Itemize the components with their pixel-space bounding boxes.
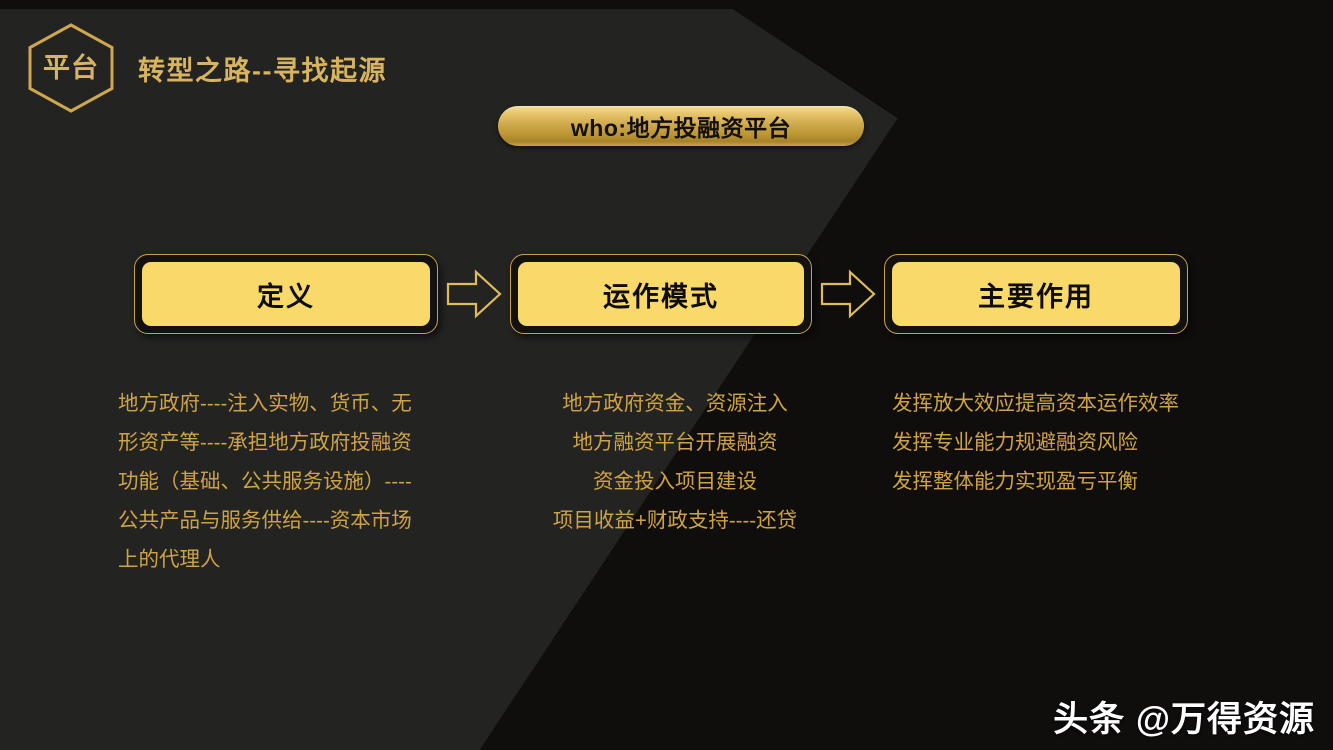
definition-line-4: 公共产品与服务供给----资本市场 [118,501,448,540]
who-banner: who:地方投融资平台 [498,106,864,146]
arrow-2 [812,268,884,320]
stage-box-main-function[interactable]: 主要作用 [884,254,1188,334]
operating-model-column: 地方政府资金、资源注入 地方融资平台开展融资 资金投入项目建设 项目收益+财政支… [540,384,810,540]
hexagon-badge-label: 平台 [26,22,116,114]
stage-box-definition-inner: 定义 [142,262,430,326]
definition-line-5: 上的代理人 [118,540,448,579]
definition-column: 地方政府----注入实物、货币、无 形资产等----承担地方政府投融资 功能（基… [118,384,448,579]
stage-row: 定义 运作模式 主要作用 [0,254,1333,334]
watermark: 头条 @万得资源 [1053,691,1315,742]
operating-model-line-1: 地方政府资金、资源注入 [540,384,810,423]
operating-model-line-4: 项目收益+财政支持----还贷 [540,501,810,540]
stage-label-operating-model: 运作模式 [603,275,719,314]
definition-line-3: 功能（基础、公共服务设施）---- [118,462,448,501]
stage-box-operating-model[interactable]: 运作模式 [510,254,812,334]
main-function-column: 发挥放大效应提高资本运作效率 发挥专业能力规避融资风险 发挥整体能力实现盈亏平衡 [892,384,1222,501]
arrow-1 [438,268,510,320]
stage-box-main-function-inner: 主要作用 [892,262,1180,326]
background-top-strip [0,0,1333,9]
hexagon-badge: 平台 [26,22,116,114]
arrow-right-outline-icon [820,268,876,320]
stage-label-definition: 定义 [257,275,315,314]
operating-model-line-2: 地方融资平台开展融资 [540,423,810,462]
stage-label-main-function: 主要作用 [978,275,1094,314]
slide-canvas: 平台 转型之路--寻找起源 who:地方投融资平台 定义 运作模式 [0,0,1333,750]
operating-model-line-3: 资金投入项目建设 [540,462,810,501]
definition-line-1: 地方政府----注入实物、货币、无 [118,384,448,423]
stage-box-operating-model-inner: 运作模式 [518,262,804,326]
main-function-line-1: 发挥放大效应提高资本运作效率 [892,384,1222,423]
definition-line-2: 形资产等----承担地方政府投融资 [118,423,448,462]
page-title: 转型之路--寻找起源 [138,49,387,88]
arrow-right-outline-icon [446,268,502,320]
slide-header: 平台 转型之路--寻找起源 [26,22,387,114]
stage-box-definition[interactable]: 定义 [134,254,438,334]
who-banner-label: who:地方投融资平台 [571,109,791,143]
main-function-line-2: 发挥专业能力规避融资风险 [892,423,1222,462]
main-function-line-3: 发挥整体能力实现盈亏平衡 [892,462,1222,501]
